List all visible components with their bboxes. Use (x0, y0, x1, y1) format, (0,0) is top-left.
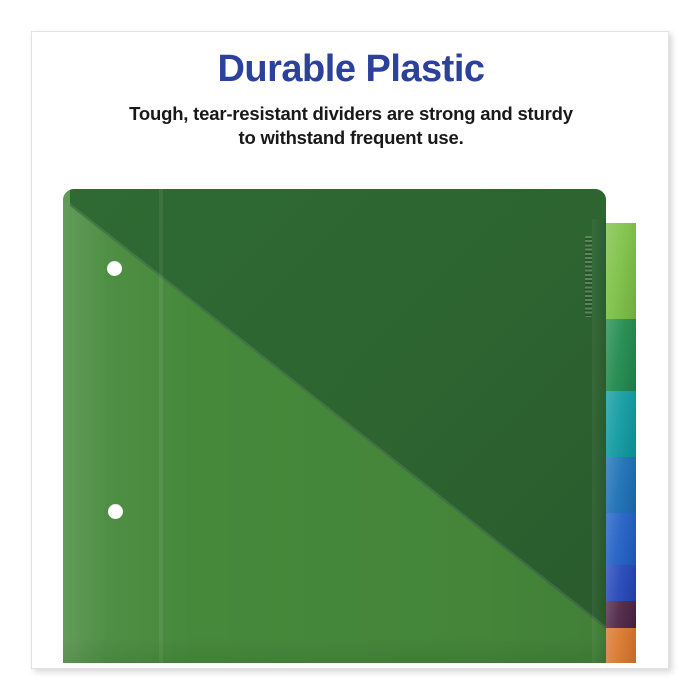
tab-purple (606, 601, 636, 628)
tab-blue (606, 513, 636, 565)
tab-royal-blue (606, 565, 636, 601)
index-tab-stack (606, 192, 636, 663)
ridged-reinforcement-strip (585, 236, 592, 317)
panel-crease (159, 189, 163, 663)
product-card: Durable Plastic Tough, tear-resistant di… (31, 31, 669, 669)
product-marketing-image: Durable Plastic Tough, tear-resistant di… (0, 0, 700, 700)
panel-bottom-shadow (63, 637, 606, 663)
punch-hole-top (107, 261, 122, 276)
tab-lime (606, 223, 636, 319)
divider-panel (63, 189, 606, 663)
punch-hole-bottom (108, 504, 123, 519)
tab-teal (606, 391, 636, 457)
tab-green (606, 319, 636, 391)
tab-steel-blue (606, 457, 636, 513)
panel-outer-lip (592, 219, 606, 663)
tab-orange (606, 628, 636, 663)
product-image (32, 32, 669, 669)
